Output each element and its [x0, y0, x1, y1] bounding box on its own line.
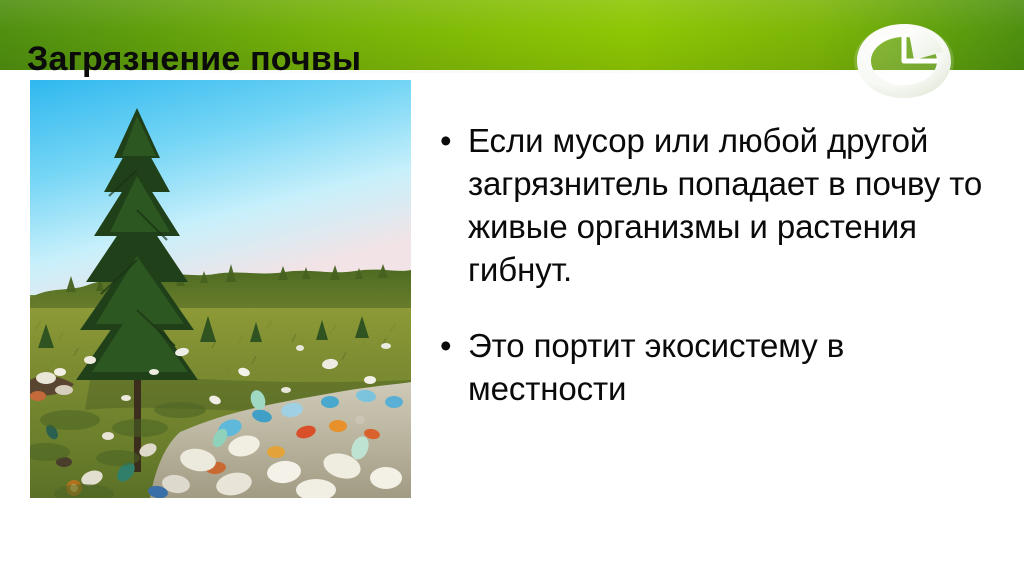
bullet-list: • Если мусор или любой другой загрязните…: [432, 86, 992, 410]
page-title: Загрязнение почвы: [27, 39, 361, 79]
bullet-marker-icon: •: [440, 119, 451, 162]
bullet-marker-icon: •: [440, 324, 451, 367]
list-item: • Если мусор или любой другой загрязните…: [432, 119, 992, 291]
slide-photo: [30, 80, 411, 498]
list-item-text: Это портит экосистему в местности: [468, 327, 844, 407]
presentation-slide: Загрязнение почвы: [0, 0, 1024, 574]
list-item: • Это портит экосистему в местности: [432, 324, 992, 410]
list-item-text: Если мусор или любой другой загрязнитель…: [468, 122, 982, 288]
